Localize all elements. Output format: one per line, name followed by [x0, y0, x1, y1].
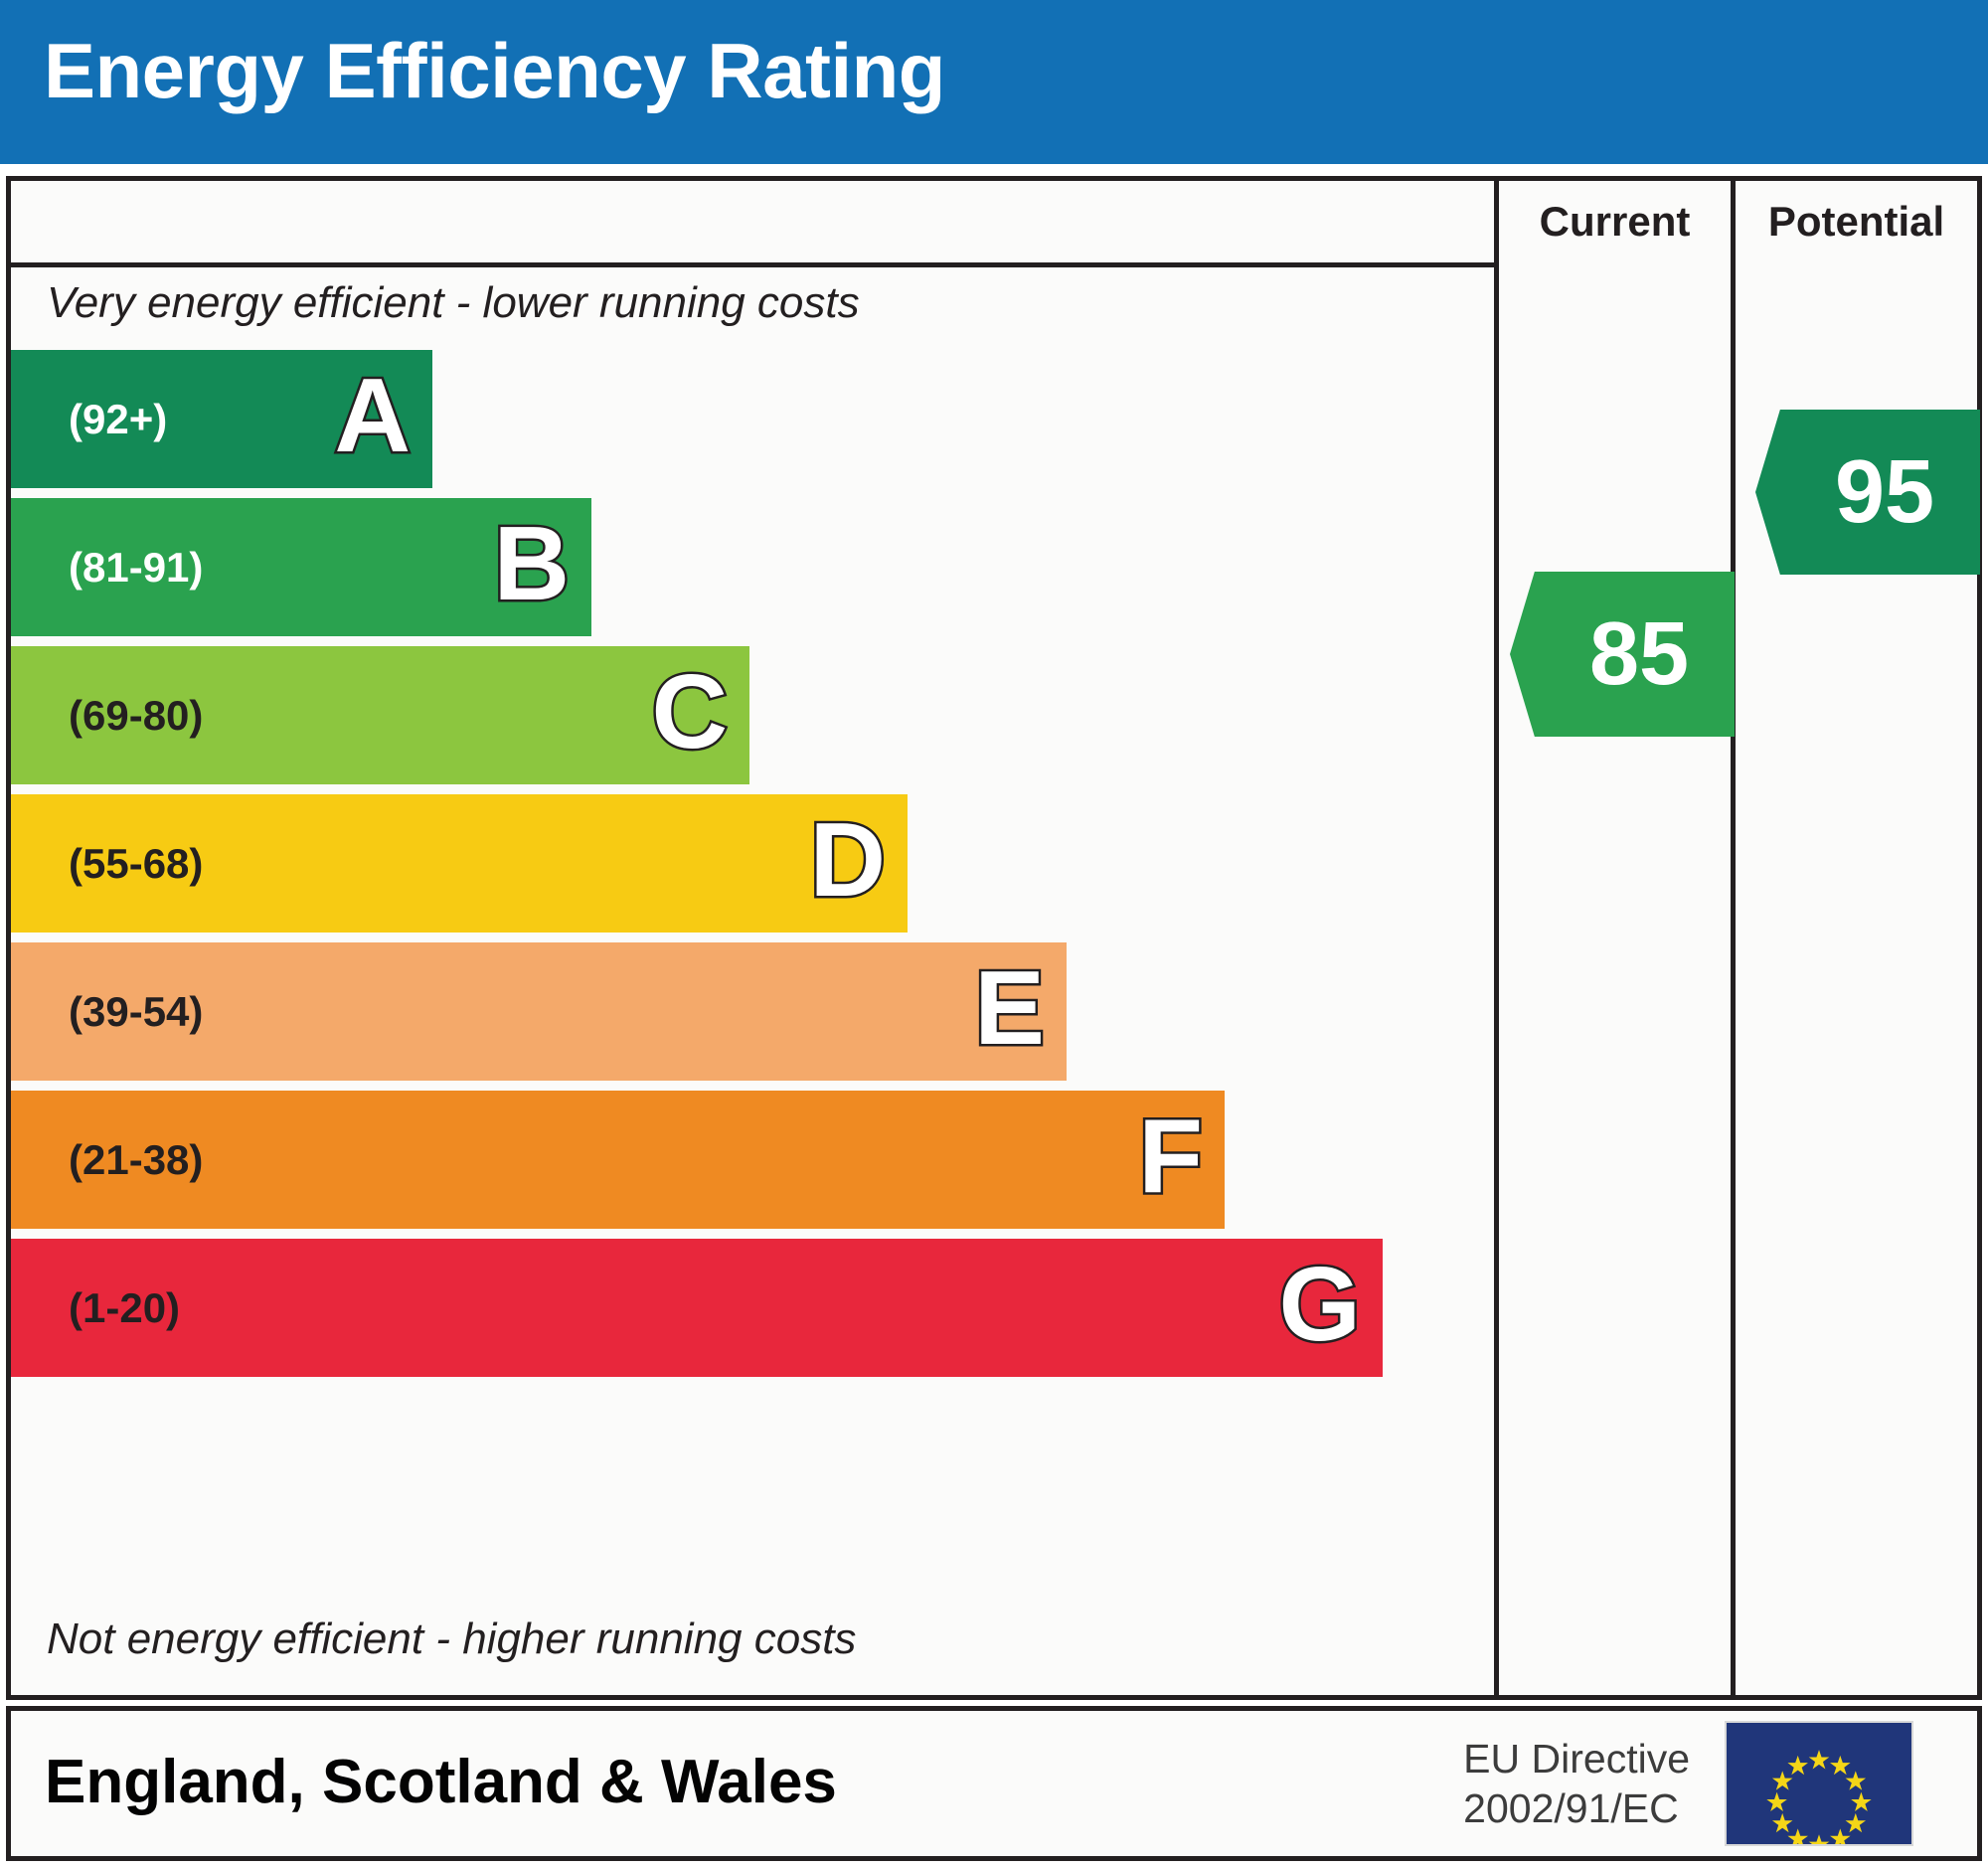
eu-directive-line1: EU Directive	[1463, 1734, 1690, 1783]
band-b-range: (81-91)	[69, 544, 203, 592]
potential-column-divider	[1731, 181, 1736, 1695]
band-g-range: (1-20)	[69, 1284, 180, 1332]
band-c-letter: C	[651, 658, 728, 764]
band-d-range: (55-68)	[69, 840, 203, 888]
band-c-range: (69-80)	[69, 692, 203, 740]
band-b-letter: B	[493, 510, 570, 615]
region-label: England, Scotland & Wales	[45, 1747, 837, 1817]
column-header-potential: Potential	[1736, 181, 1977, 262]
eu-directive-label: EU Directive 2002/91/EC	[1463, 1734, 1690, 1833]
current-rating-value: 85	[1556, 609, 1689, 699]
band-c: (69-80) C	[11, 646, 749, 784]
band-e-range: (39-54)	[69, 988, 203, 1036]
band-d: (55-68) D	[11, 794, 908, 933]
current-rating-pointer: 85	[1510, 572, 1735, 737]
potential-rating-value: 95	[1801, 447, 1934, 537]
chart-title-bar: Energy Efficiency Rating	[0, 0, 1988, 164]
page-title: Energy Efficiency Rating	[44, 26, 945, 116]
potential-rating-pointer: 95	[1755, 410, 1980, 575]
band-f-range: (21-38)	[69, 1136, 203, 1184]
certificate-footer: England, Scotland & Wales EU Directive 2…	[6, 1706, 1982, 1861]
current-column-divider	[1494, 181, 1499, 1695]
eu-flag-stars-icon	[1727, 1723, 1911, 1844]
band-e: (39-54) E	[11, 942, 1067, 1081]
column-header-current: Current	[1499, 181, 1731, 262]
band-d-letter: D	[809, 806, 886, 912]
band-g-letter: G	[1279, 1251, 1361, 1356]
energy-efficiency-certificate: Energy Efficiency Rating Current Potenti…	[0, 0, 1988, 1867]
band-a-letter: A	[334, 362, 411, 467]
eu-flag-icon	[1725, 1721, 1913, 1846]
caption-efficient: Very energy efficient - lower running co…	[47, 278, 860, 328]
rating-chart-panel: Current Potential Very energy efficient …	[6, 176, 1982, 1700]
band-b: (81-91) B	[11, 498, 591, 636]
rating-bands: Very energy efficient - lower running co…	[11, 267, 1494, 1700]
band-f: (21-38) F	[11, 1091, 1225, 1229]
band-a: (92+) A	[11, 350, 432, 488]
band-e-letter: E	[974, 954, 1045, 1060]
band-a-range: (92+)	[69, 396, 167, 443]
band-g: (1-20) G	[11, 1239, 1383, 1377]
eu-directive-line2: 2002/91/EC	[1463, 1783, 1690, 1833]
caption-inefficient: Not energy efficient - higher running co…	[47, 1614, 856, 1664]
band-f-letter: F	[1138, 1103, 1203, 1208]
